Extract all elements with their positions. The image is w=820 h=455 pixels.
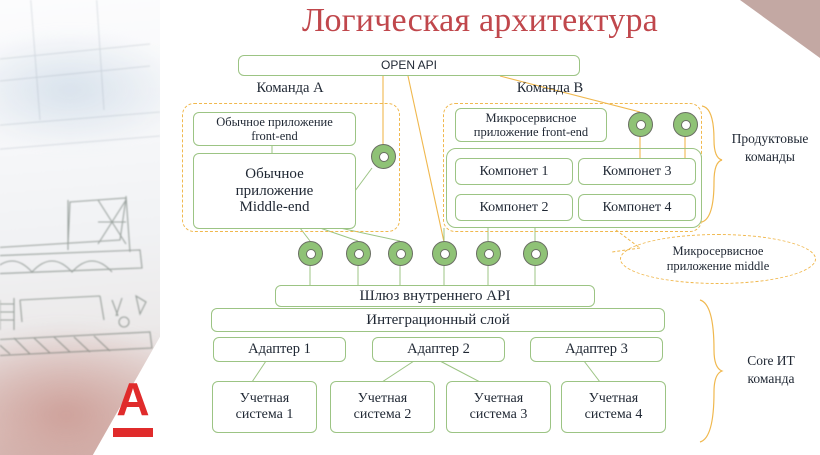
- team-b-frontend-line1: Микросервисное: [486, 111, 577, 125]
- adapter-2-box[interactable]: Адаптер 2: [372, 337, 505, 362]
- microservice-middle-line2: приложение middle: [667, 259, 770, 274]
- alfa-logo: А: [107, 378, 159, 440]
- adapter-label: Адаптер 3: [565, 341, 628, 357]
- system-line1: Учетная: [358, 391, 407, 407]
- team-a-middleend-line2: приложение: [236, 183, 314, 200]
- api-gateway-label: Шлюз внутреннего API: [360, 288, 511, 305]
- integration-node-1[interactable]: [298, 241, 323, 266]
- logo-letter: А: [107, 378, 159, 422]
- integration-layer-box[interactable]: Интеграционный слой: [211, 308, 665, 332]
- core-it-line2: команда: [728, 370, 814, 388]
- api-gateway-box[interactable]: Шлюз внутреннего API: [275, 285, 595, 307]
- component-label: Компонет 3: [602, 164, 671, 180]
- microservice-middle-line1: Микросервисное: [673, 244, 764, 259]
- core-it-label: Core ИТ команда: [728, 352, 814, 387]
- integration-node-6[interactable]: [523, 241, 548, 266]
- integration-node-2[interactable]: [346, 241, 371, 266]
- team-b-component-4[interactable]: Компонет 4: [578, 194, 696, 221]
- team-a-middleend-line3: Middle-end: [240, 199, 310, 216]
- integration-node-team-b-2[interactable]: [673, 112, 698, 137]
- accounting-system-1-box[interactable]: Учетная система 1: [212, 381, 317, 433]
- system-line1: Учетная: [589, 391, 638, 407]
- team-a-label: Команда А: [190, 80, 390, 97]
- product-teams-line2: команды: [724, 148, 816, 166]
- team-a-frontend-line2: front-end: [251, 129, 298, 143]
- adapter-label: Адаптер 1: [248, 341, 311, 357]
- system-line2: система 1: [236, 407, 294, 423]
- system-line1: Учетная: [240, 391, 289, 407]
- open-api-box[interactable]: OPEN API: [238, 55, 580, 76]
- adapter-label: Адаптер 2: [407, 341, 470, 357]
- team-b-component-3[interactable]: Компонет 3: [578, 158, 696, 185]
- core-it-line1: Core ИТ: [728, 352, 814, 370]
- component-label: Компонет 2: [479, 200, 548, 216]
- team-b-component-1[interactable]: Компонет 1: [455, 158, 573, 185]
- team-b-frontend-line2: приложение front-end: [474, 125, 588, 139]
- team-a-middleend-box[interactable]: Обычное приложение Middle-end: [193, 153, 356, 229]
- team-b-component-2[interactable]: Компонет 2: [455, 194, 573, 221]
- component-label: Компонет 1: [479, 164, 548, 180]
- product-teams-label: Продуктовые команды: [724, 130, 816, 165]
- adapter-3-box[interactable]: Адаптер 3: [530, 337, 663, 362]
- system-line2: система 2: [354, 407, 412, 423]
- system-line1: Учетная: [474, 391, 523, 407]
- integration-node-5[interactable]: [476, 241, 501, 266]
- slide-canvas: А Логическая архитектура: [0, 0, 820, 455]
- accounting-system-2-box[interactable]: Учетная система 2: [330, 381, 435, 433]
- page-title: Логическая архитектура: [180, 2, 780, 40]
- team-a-frontend-box[interactable]: Обычное приложение front-end: [193, 112, 356, 146]
- team-a-frontend-line1: Обычное приложение: [216, 115, 333, 129]
- microservice-middle-callout: Микросервисное приложение middle: [620, 234, 816, 284]
- accounting-system-3-box[interactable]: Учетная система 3: [446, 381, 551, 433]
- integration-node-team-a[interactable]: [371, 144, 396, 169]
- product-teams-line1: Продуктовые: [724, 130, 816, 148]
- integration-node-4[interactable]: [432, 241, 457, 266]
- integration-node-3[interactable]: [388, 241, 413, 266]
- integration-layer-label: Интеграционный слой: [366, 312, 510, 329]
- integration-node-team-b-1[interactable]: [628, 112, 653, 137]
- team-a-middleend-line1: Обычное: [245, 166, 303, 183]
- accounting-system-4-box[interactable]: Учетная система 4: [561, 381, 666, 433]
- team-b-label: Команда В: [450, 80, 650, 97]
- adapter-1-box[interactable]: Адаптер 1: [213, 337, 346, 362]
- team-b-frontend-box[interactable]: Микросервисное приложение front-end: [455, 108, 607, 142]
- component-label: Компонет 4: [602, 200, 671, 216]
- system-line2: система 3: [470, 407, 528, 423]
- open-api-label: OPEN API: [381, 59, 437, 72]
- logo-underline: [113, 428, 153, 437]
- system-line2: система 4: [585, 407, 643, 423]
